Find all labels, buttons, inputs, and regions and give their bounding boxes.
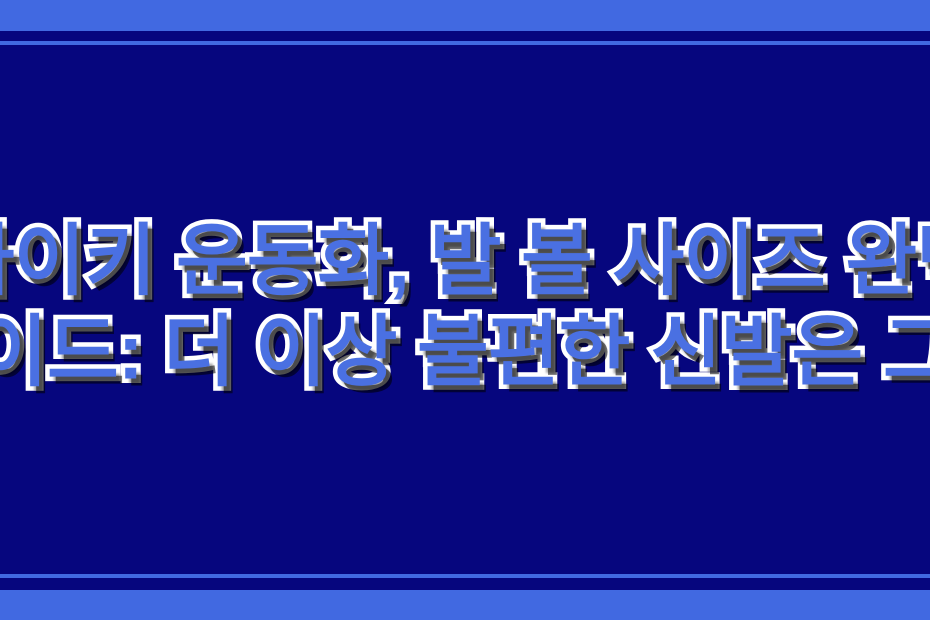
top-accent-rule xyxy=(0,41,930,45)
bottom-accent-rule xyxy=(0,574,930,578)
headline-line-1: 나이키 운동화, 발 볼 사이즈 완벽 xyxy=(0,219,930,302)
headline-block: 나이키 운동화, 발 볼 사이즈 완벽 가이드: 더 이상 불편한 신발은 그만 xyxy=(0,219,930,392)
top-accent-band xyxy=(0,0,930,31)
headline-line-2: 가이드: 더 이상 불편한 신발은 그만 xyxy=(0,310,930,393)
bottom-accent-band xyxy=(0,590,930,620)
banner-canvas: 나이키 운동화, 발 볼 사이즈 완벽 가이드: 더 이상 불편한 신발은 그만 xyxy=(0,0,930,620)
